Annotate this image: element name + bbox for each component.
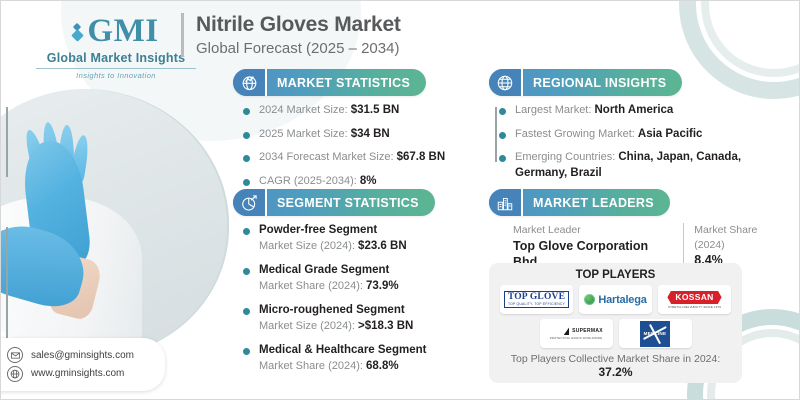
top-players-logo-row: TOP GLOVE TOP QUALITY, TOP EFFICIENCY Ha… (497, 285, 734, 314)
company-name: KOSSAN (667, 291, 721, 305)
segment-metric-label: Market Size (2024): (259, 320, 355, 332)
segment-metric-value: 73.9% (366, 280, 399, 292)
segment-metric-value: 68.8% (366, 360, 399, 372)
stat-label: 2034 Forecast Market Size: (259, 151, 394, 163)
globe-icon (7, 366, 23, 382)
contact-email-row[interactable]: sales@gminsights.com (7, 347, 155, 363)
segment-metric-label: Market Size (2024): (259, 240, 355, 252)
segment-metric-label: Market Share (2024): (259, 280, 363, 292)
globe-icon (489, 69, 523, 96)
logo-initials: GMI (87, 15, 158, 48)
market-share-caption: Market Share (2024) (694, 223, 789, 252)
stat-label: Fastest Growing Market: (515, 128, 635, 140)
company-tagline: TOP QUALITY, TOP EFFICIENCY (508, 303, 565, 306)
segment-metric-label: Market Share (2024): (259, 360, 363, 372)
timeline-spine (6, 107, 8, 177)
page-title: Nitrile Gloves Market Global Forecast (2… (181, 13, 401, 57)
list-item: 2024 Market Size: $31.5 BN (241, 103, 481, 119)
list-item: Fastest Growing Market: Asia Pacific (497, 127, 787, 143)
globe-chart-icon (233, 69, 267, 96)
company-name: Hartalega (598, 294, 646, 306)
envelope-icon (7, 347, 23, 363)
top-players-card: TOP PLAYERS TOP GLOVE TOP QUALITY, TOP E… (489, 263, 742, 383)
company-logo-hartalega[interactable]: Hartalega (579, 285, 652, 314)
stat-label: 2025 Market Size: (259, 128, 348, 140)
list-item: Emerging Countries: China, Japan, Canada… (497, 150, 787, 181)
diamond-icon (73, 24, 82, 40)
contact-card: sales@gminsights.com www.gminsights.com (0, 338, 165, 392)
section-title: MARKET STATISTICS (267, 76, 426, 90)
segment-name: Medical Grade Segment (259, 263, 481, 278)
stat-label: CAGR (2025-2034): (259, 175, 357, 187)
market-statistics-list: 2024 Market Size: $31.5 BN 2025 Market S… (241, 103, 481, 197)
decorative-ring-top-right-outer (679, 0, 800, 99)
company-name: TOP GLOVE (508, 293, 565, 303)
list-item: Powder-free Segment Market Size (2024): … (241, 223, 481, 255)
company-name: SUPERMAX (572, 329, 603, 334)
section-title: SEGMENT STATISTICS (267, 196, 435, 210)
section-header-regional-insights: REGIONAL INSIGHTS (489, 69, 682, 96)
stat-value: Asia Pacific (638, 128, 703, 140)
stat-label: Largest Market: (515, 104, 591, 116)
company-logo-kossan[interactable]: KOSSAN STRETCH RELIABILITY SINCE 1979 (658, 285, 731, 314)
stat-label: Emerging Countries: (515, 151, 615, 163)
top-players-title: TOP PLAYERS (497, 269, 734, 281)
report-subtitle: Global Forecast (2025 – 2034) (196, 40, 401, 57)
company-tagline: PROTECTING HANDS WORLDWIDE (550, 337, 603, 340)
stat-label: 2024 Market Size: (259, 104, 348, 116)
stat-value: North America (594, 104, 673, 116)
logo-divider (36, 68, 196, 69)
regional-insights-list: Largest Market: North America Fastest Gr… (497, 103, 787, 189)
section-header-segment-statistics: SEGMENT STATISTICS (233, 189, 435, 216)
top-players-logo-row: SUPERMAX PROTECTING HANDS WORLDWIDE MEDL… (497, 319, 734, 348)
company-logo-supermax[interactable]: SUPERMAX PROTECTING HANDS WORLDWIDE (540, 319, 613, 348)
section-title: REGIONAL INSIGHTS (523, 76, 682, 90)
report-title: Nitrile Gloves Market (196, 13, 401, 37)
list-item: Largest Market: North America (497, 103, 787, 119)
segment-statistics-list: Powder-free Segment Market Size (2024): … (241, 223, 481, 383)
green-globe-icon (584, 294, 595, 305)
factory-buildings-icon (489, 189, 523, 216)
market-share-block: Market Share (2024) 8.4% (683, 223, 799, 269)
market-leader-caption: Market Leader (513, 223, 673, 238)
logo-tagline: Insights to Innovation (11, 71, 221, 80)
contact-email: sales@gminsights.com (31, 350, 134, 361)
section-header-market-statistics: MARKET STATISTICS (233, 69, 426, 96)
stat-value: $67.8 BN (397, 151, 446, 163)
list-item: Micro-roughened Segment Market Size (202… (241, 303, 481, 335)
decorative-ring-top-right-inner (701, 0, 800, 77)
supermax-mark-icon (549, 327, 569, 335)
pie-chart-arrow-icon (233, 189, 267, 216)
list-item: 2025 Market Size: $34 BN (241, 127, 481, 143)
infographic-canvas: GMI Global Market Insights Insights to I… (0, 0, 800, 400)
company-logo-top-glove[interactable]: TOP GLOVE TOP QUALITY, TOP EFFICIENCY (500, 285, 573, 314)
section-header-market-leaders: MARKET LEADERS (489, 189, 670, 216)
segment-name: Micro-roughened Segment (259, 303, 481, 318)
contact-website: www.gminsights.com (31, 368, 124, 379)
list-item: Medical Grade Segment Market Share (2024… (241, 263, 481, 295)
top-players-collective-share: Top Players Collective Market Share in 2… (497, 353, 734, 379)
stat-value: 8% (360, 175, 377, 187)
collective-share-label: Top Players Collective Market Share in 2… (511, 353, 721, 365)
collective-share-value: 37.2% (598, 365, 632, 379)
company-tagline: STRETCH RELIABILITY SINCE 1979 (667, 306, 721, 309)
segment-name: Powder-free Segment (259, 223, 481, 238)
section-title: MARKET LEADERS (523, 196, 670, 210)
list-item: CAGR (2025-2034): 8% (241, 174, 481, 190)
company-logo-medline[interactable]: MEDLINE (619, 319, 692, 348)
segment-metric-value: >$18.3 BN (358, 320, 413, 332)
segment-name: Medical & Healthcare Segment (259, 343, 481, 358)
stat-value: $31.5 BN (351, 104, 400, 116)
segment-metric-value: $23.6 BN (358, 240, 407, 252)
stat-value: $34 BN (351, 128, 390, 140)
contact-website-row[interactable]: www.gminsights.com (7, 366, 155, 382)
list-item: Medical & Healthcare Segment Market Shar… (241, 343, 481, 375)
list-item: 2034 Forecast Market Size: $67.8 BN (241, 150, 481, 166)
company-name: MEDLINE (644, 331, 667, 336)
